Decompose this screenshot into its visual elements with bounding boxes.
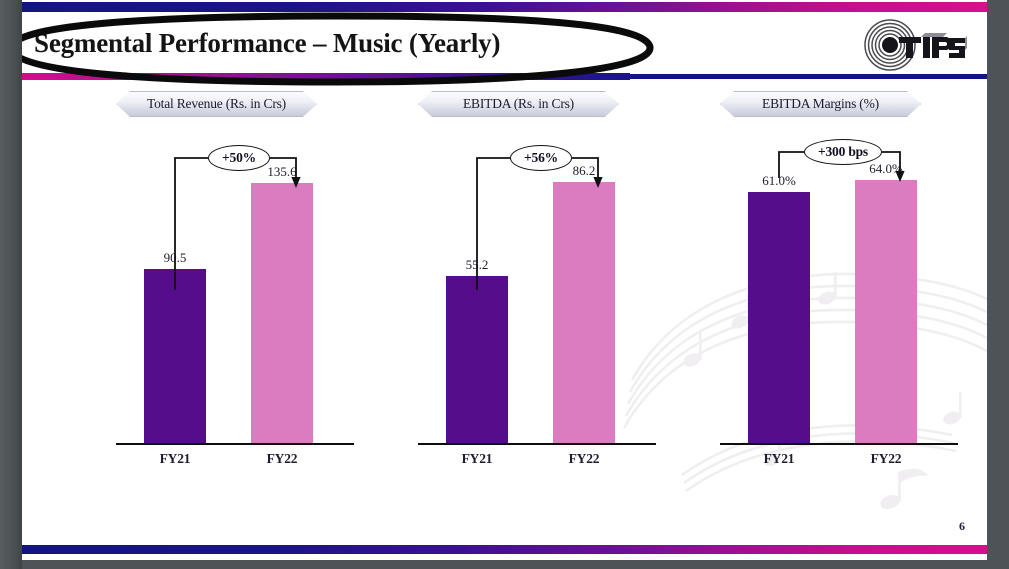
plot-area: 61.0% 64.0% +300 bps FY21 FY22 [700,130,987,475]
growth-callout-label: +300 bps [818,144,868,160]
bar-value-fy21: 61.0% [734,173,824,189]
plot-area: 55.2 86.2 +56% FY21 FY22 [398,130,698,475]
title-band: Segmental Performance – Music (Yearly) [22,20,987,72]
bar-fy21 [144,269,206,443]
category-label-fy21: FY21 [734,451,824,467]
bar-fy22 [855,180,917,443]
category-label-fy22: FY22 [841,451,931,467]
page-number: 6 [959,519,965,534]
section-badge-label: Total Revenue (Rs. in Crs) [147,96,286,112]
x-axis-line [116,443,354,445]
growth-callout-badge: +300 bps [804,139,882,165]
top-accent-rule [22,2,987,12]
section-badge-ebitda-margins: EBITDA Margins (%) [720,91,921,117]
growth-callout-label: +50% [222,150,256,166]
slide-viewer: Segmental Performance – Music (Yearly) [0,0,1009,569]
x-axis-line [418,443,656,445]
growth-arrow-annotation [398,130,698,475]
category-label-fy21: FY21 [130,451,220,467]
section-badge-label: EBITDA (Rs. in Crs) [463,96,574,112]
bar-value-fy21: 55.2 [432,257,522,273]
bar-fy22 [553,182,615,443]
page-title: Segmental Performance – Music (Yearly) [34,28,500,59]
category-label-fy22: FY22 [539,451,629,467]
section-badge-total-revenue: Total Revenue (Rs. in Crs) [116,91,317,117]
bar-fy22 [251,183,313,443]
plot-area: 90.5 135.6 +50% FY21 FY22 [96,130,396,475]
growth-callout-badge: +56% [510,145,572,171]
growth-arrow-annotation [96,130,396,475]
category-label-fy22: FY22 [237,451,327,467]
growth-callout-label: +56% [524,150,558,166]
title-accent-rule-right [630,74,987,79]
chart-ebitda: 55.2 86.2 +56% FY21 FY22 [398,130,698,505]
slide-canvas: Segmental Performance – Music (Yearly) [22,0,987,560]
category-label-fy21: FY21 [432,451,522,467]
tips-logo-icon [857,18,967,72]
chart-ebitda-margins: 61.0% 64.0% +300 bps FY21 FY22 [700,130,987,505]
section-badge-label: EBITDA Margins (%) [762,96,879,112]
growth-callout-badge: +50% [208,145,270,171]
title-accent-rule-left [22,73,630,80]
chart-total-revenue: 90.5 135.6 +50% FY21 FY22 [96,130,396,505]
bottom-accent-rule [22,545,987,554]
section-badge-ebitda: EBITDA (Rs. in Crs) [418,91,619,117]
x-axis-line [720,443,958,445]
bar-value-fy21: 90.5 [130,250,220,266]
bar-fy21 [748,192,810,443]
bar-fy21 [446,276,508,443]
